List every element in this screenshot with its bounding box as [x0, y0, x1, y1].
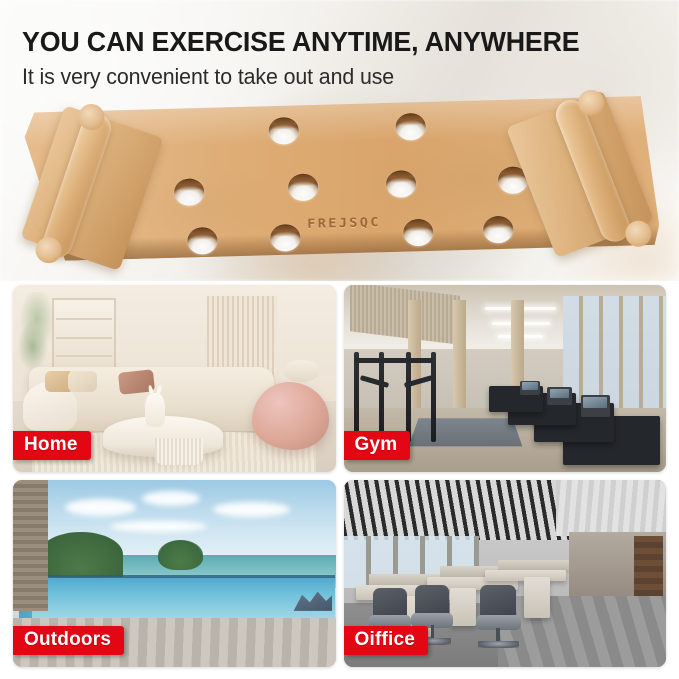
infinity-pool-water [32, 577, 335, 618]
scenario-tile-office[interactable]: Oiffice [344, 480, 667, 667]
usage-scenario-grid: Home [13, 285, 666, 667]
shelf-unit [52, 298, 117, 373]
page-title: YOU CAN EXERCISE ANYTIME, ANYWHERE [22, 26, 579, 58]
board-handle-right [512, 93, 642, 252]
scenario-badge-office: Oiffice [344, 626, 429, 655]
scenario-badge-home: Home [13, 431, 91, 460]
scenario-badge-outdoors: Outdoors [13, 626, 124, 655]
office-chair [476, 585, 521, 649]
ceiling-panel-right [556, 480, 666, 536]
wall-column [453, 300, 466, 416]
hillside-vegetation [39, 532, 123, 577]
building-wall [13, 480, 48, 611]
scenario-tile-gym[interactable]: Gym [344, 285, 667, 472]
desk-cabinet [450, 588, 476, 625]
desk-cabinet [524, 577, 550, 618]
scenario-badge-gym: Gym [344, 431, 411, 460]
bunny-figurine [145, 393, 164, 427]
cloud [65, 499, 136, 516]
page-subtitle: It is very convenient to take out and us… [22, 64, 394, 90]
scenario-tile-outdoors[interactable]: Outdoors [13, 480, 336, 667]
bean-bag-chair [252, 382, 329, 449]
board-handle-left [30, 106, 160, 265]
coffee-table-base [155, 438, 203, 464]
product-marketing-image: YOU CAN EXERCISE ANYTIME, ANYWHERE It is… [0, 0, 679, 679]
sofa-cushion [68, 371, 97, 392]
product-image: FREJSQC [14, 96, 666, 276]
island-trees [158, 540, 203, 570]
pool-infinity-edge [32, 575, 335, 578]
push-up-board [12, 88, 668, 274]
brand-logo-engraving: FREJSQC [307, 214, 381, 231]
treadmill [489, 386, 544, 412]
handle-cap [35, 237, 62, 264]
side-table [284, 360, 319, 382]
scenario-tile-home[interactable]: Home [13, 285, 336, 472]
hero-section: YOU CAN EXERCISE ANYTIME, ANYWHERE It is… [0, 0, 679, 281]
cable-machine [350, 352, 447, 442]
